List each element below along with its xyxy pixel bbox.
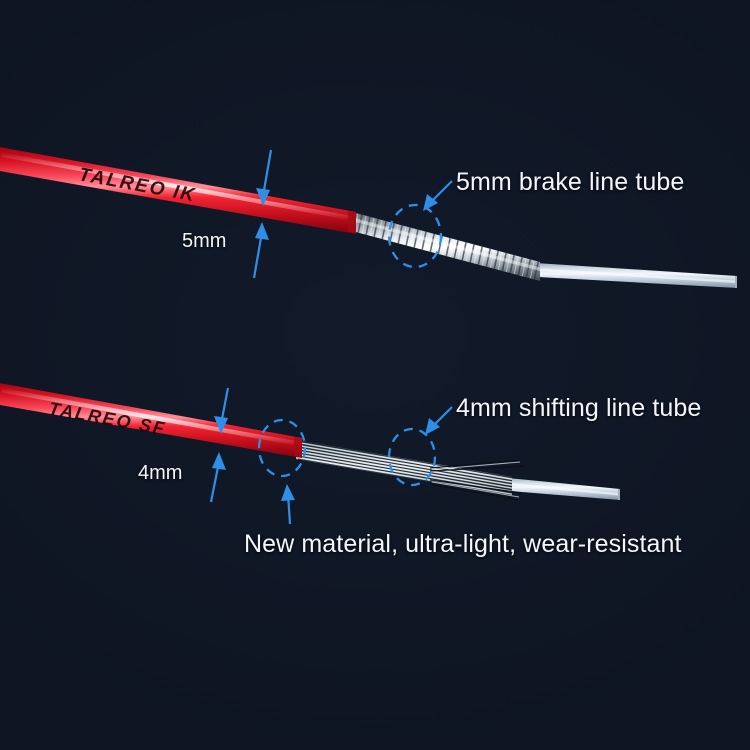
dim-arrow-up-head (255, 222, 269, 240)
brake-diameter-label: 5mm (182, 230, 226, 253)
brake-line-label: 5mm brake line tube (456, 168, 684, 197)
shift-diameter-arrows (211, 388, 228, 502)
footer-caption: New material, ultra-light, wear-resistan… (244, 530, 682, 559)
shift-callout-arrow (425, 407, 452, 435)
brake-coil-housing (349, 208, 540, 286)
dim-arrow-down-shaft (263, 150, 271, 196)
dim-arrow-up-shaft (254, 232, 262, 278)
product-image-canvas: TALREO IK (0, 0, 750, 750)
brake-callout-arrow (423, 181, 452, 211)
shift-jacket-callout-arrow (281, 484, 295, 524)
shift-red-jacket: TALREO SF (0, 382, 302, 458)
cable-illustration: TALREO IK (0, 0, 750, 750)
brake-liner-tube (520, 262, 737, 288)
shift-diameter-label: 4mm (138, 462, 182, 485)
brake-red-jacket: TALREO IK (0, 146, 356, 234)
shift-strand-bundle (296, 440, 524, 500)
shift-line-label: 4mm shifting line tube (456, 394, 701, 423)
brake-brand-text: TALREO IK (77, 164, 198, 206)
